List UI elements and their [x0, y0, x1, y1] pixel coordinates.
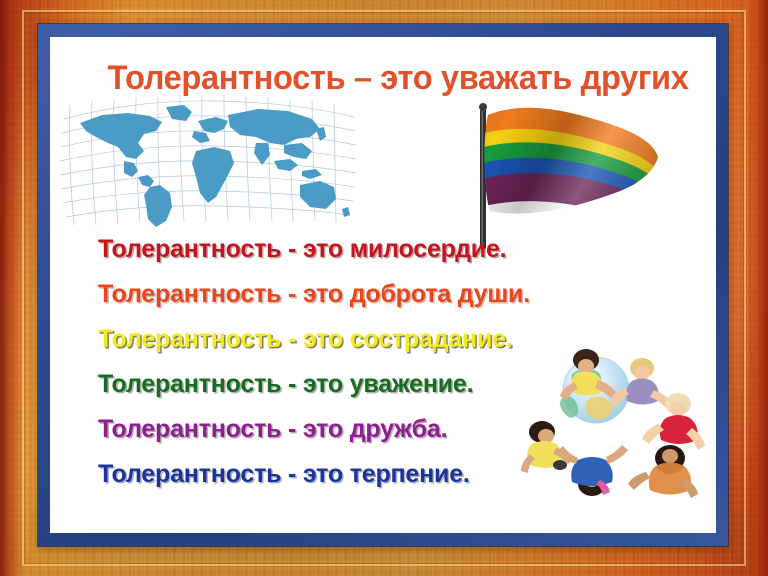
blue-mat-border: Толерантность – это уважать других Толер…	[38, 24, 728, 546]
statement-line: Толерантность - это терпение.	[50, 452, 716, 497]
statement-line: Толерантность - это доброта души.	[50, 272, 716, 317]
statement-line: Толерантность - это милосердие.	[50, 227, 716, 272]
statement-line: Толерантность - это дружба.	[50, 407, 716, 452]
statement-line: Толерантность - это уважение.	[50, 362, 716, 407]
frame-edge-left	[0, 0, 26, 576]
frame-edge-right	[742, 0, 768, 576]
poster-canvas: Толерантность – это уважать других Толер…	[50, 37, 716, 533]
slide-root: Толерантность – это уважать других Толер…	[0, 0, 768, 576]
world-map-icon	[58, 85, 358, 235]
statement-list: Толерантность - это милосердие. Толерант…	[50, 227, 716, 497]
page-title: Толерантность – это уважать других	[89, 59, 707, 98]
statement-line: Толерантность - это сострадание.	[50, 317, 716, 362]
